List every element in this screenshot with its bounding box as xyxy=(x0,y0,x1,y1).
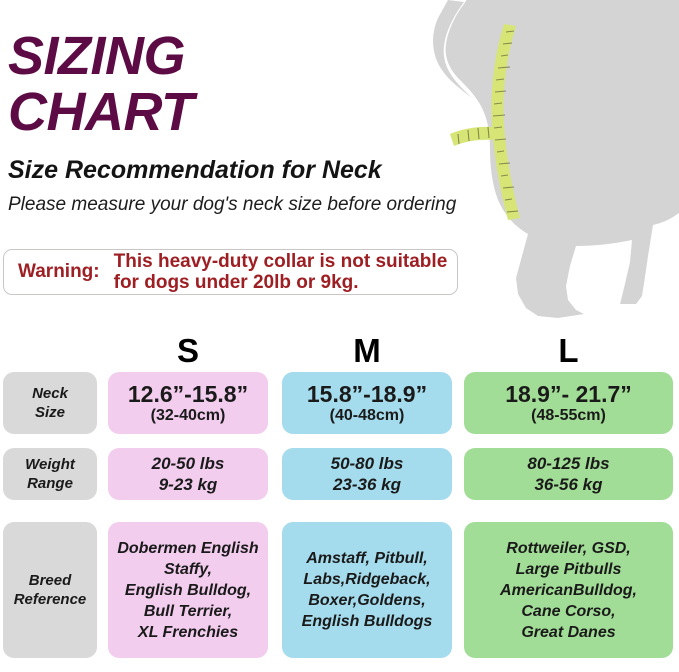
row-label-neck-size-line-2: Size xyxy=(35,403,65,422)
page-subtitle: Size Recommendation for Neck xyxy=(8,156,456,185)
size-header-s: S xyxy=(108,330,268,372)
neck-size-inches-s: 12.6”-15.8” xyxy=(128,381,248,407)
breed-m-line-1: Amstaff, Pitbull, xyxy=(306,548,428,569)
header-spacer xyxy=(0,330,100,372)
size-header-l: L xyxy=(464,330,673,372)
size-header-row: S M L xyxy=(0,330,679,372)
breed-l-line-5: Great Danes xyxy=(521,622,615,643)
page-title-line-1: SIZING xyxy=(8,28,456,84)
breed-s-line-5: XL Frenchies xyxy=(138,622,238,643)
breed-m-line-3: Boxer,Goldens, xyxy=(308,590,425,611)
neck-size-cm-m: (40-48cm) xyxy=(330,407,405,425)
weight-range-value-s: 20-50 lbs 9-23 kg xyxy=(108,448,268,500)
breed-l-line-4: Cane Corso, xyxy=(521,601,615,622)
weight-lbs-l: 80-125 lbs xyxy=(527,453,609,474)
page-title-line-2: CHART xyxy=(8,84,456,140)
neck-size-value-l: 18.9”- 21.7” (48-55cm) xyxy=(464,372,673,434)
breed-s-line-2: Staffy, xyxy=(164,559,212,580)
breed-m-line-2: Labs,Ridgeback, xyxy=(303,569,430,590)
neck-size-row: Neck Size 12.6”-15.8” (32-40cm) 15.8”-18… xyxy=(0,372,679,434)
neck-size-value-m: 15.8”-18.9” (40-48cm) xyxy=(282,372,452,434)
weight-kg-m: 23-36 kg xyxy=(333,474,401,495)
weight-kg-s: 9-23 kg xyxy=(159,474,218,495)
breed-reference-value-l: Rottweiler, GSD, Large Pitbulls American… xyxy=(464,522,673,658)
breed-s-line-1: Dobermen English xyxy=(117,538,258,559)
breed-reference-row: Breed Reference Dobermen English Staffy,… xyxy=(0,522,679,658)
dog-silhouette xyxy=(446,0,679,318)
row-label-neck-size-line-1: Neck xyxy=(32,384,68,403)
row-label-breed-reference-line-2: Reference xyxy=(14,590,87,609)
warning-message-line-1: This heavy-duty collar is not suitable xyxy=(114,251,448,272)
warning-message-line-2: for dogs under 20lb or 9kg. xyxy=(114,272,448,293)
size-header-m: M xyxy=(282,330,452,372)
breed-s-line-4: Bull Terrier, xyxy=(144,601,232,622)
breed-reference-value-s: Dobermen English Staffy, English Bulldog… xyxy=(108,522,268,658)
neck-size-inches-l: 18.9”- 21.7” xyxy=(505,381,632,407)
breed-l-line-1: Rottweiler, GSD, xyxy=(506,538,630,559)
instruction-text: Please measure your dog's neck size befo… xyxy=(8,194,456,216)
warning-message: This heavy-duty collar is not suitable f… xyxy=(100,251,448,293)
weight-lbs-s: 20-50 lbs xyxy=(152,453,225,474)
breed-m-line-4: English Bulldogs xyxy=(302,611,433,632)
breed-l-line-3: AmericanBulldog, xyxy=(500,580,637,601)
warning-label: Warning: xyxy=(4,261,100,283)
header-block: SIZING CHART Size Recommendation for Nec… xyxy=(8,28,456,216)
weight-kg-l: 36-56 kg xyxy=(534,474,602,495)
weight-range-value-l: 80-125 lbs 36-56 kg xyxy=(464,448,673,500)
breed-reference-value-m: Amstaff, Pitbull, Labs,Ridgeback, Boxer,… xyxy=(282,522,452,658)
row-label-neck-size: Neck Size xyxy=(3,372,97,434)
row-label-breed-reference-line-1: Breed xyxy=(29,571,72,590)
row-label-weight-range-line-1: Weight xyxy=(25,455,75,474)
row-label-weight-range: Weight Range xyxy=(3,448,97,500)
weight-lbs-m: 50-80 lbs xyxy=(331,453,404,474)
weight-range-row: Weight Range 20-50 lbs 9-23 kg 50-80 lbs… xyxy=(0,448,679,500)
breed-s-line-3: English Bulldog, xyxy=(125,580,251,601)
breed-l-line-2: Large Pitbulls xyxy=(516,559,622,580)
row-label-weight-range-line-2: Range xyxy=(27,474,73,493)
weight-range-value-m: 50-80 lbs 23-36 kg xyxy=(282,448,452,500)
size-table: S M L Neck Size 12.6”-15.8” (32-40cm) 15… xyxy=(0,330,679,658)
neck-size-cm-s: (32-40cm) xyxy=(151,407,226,425)
warning-box: Warning: This heavy-duty collar is not s… xyxy=(3,249,458,295)
row-label-breed-reference: Breed Reference xyxy=(3,522,97,658)
neck-size-value-s: 12.6”-15.8” (32-40cm) xyxy=(108,372,268,434)
neck-size-inches-m: 15.8”-18.9” xyxy=(307,381,427,407)
neck-size-cm-l: (48-55cm) xyxy=(531,407,606,425)
